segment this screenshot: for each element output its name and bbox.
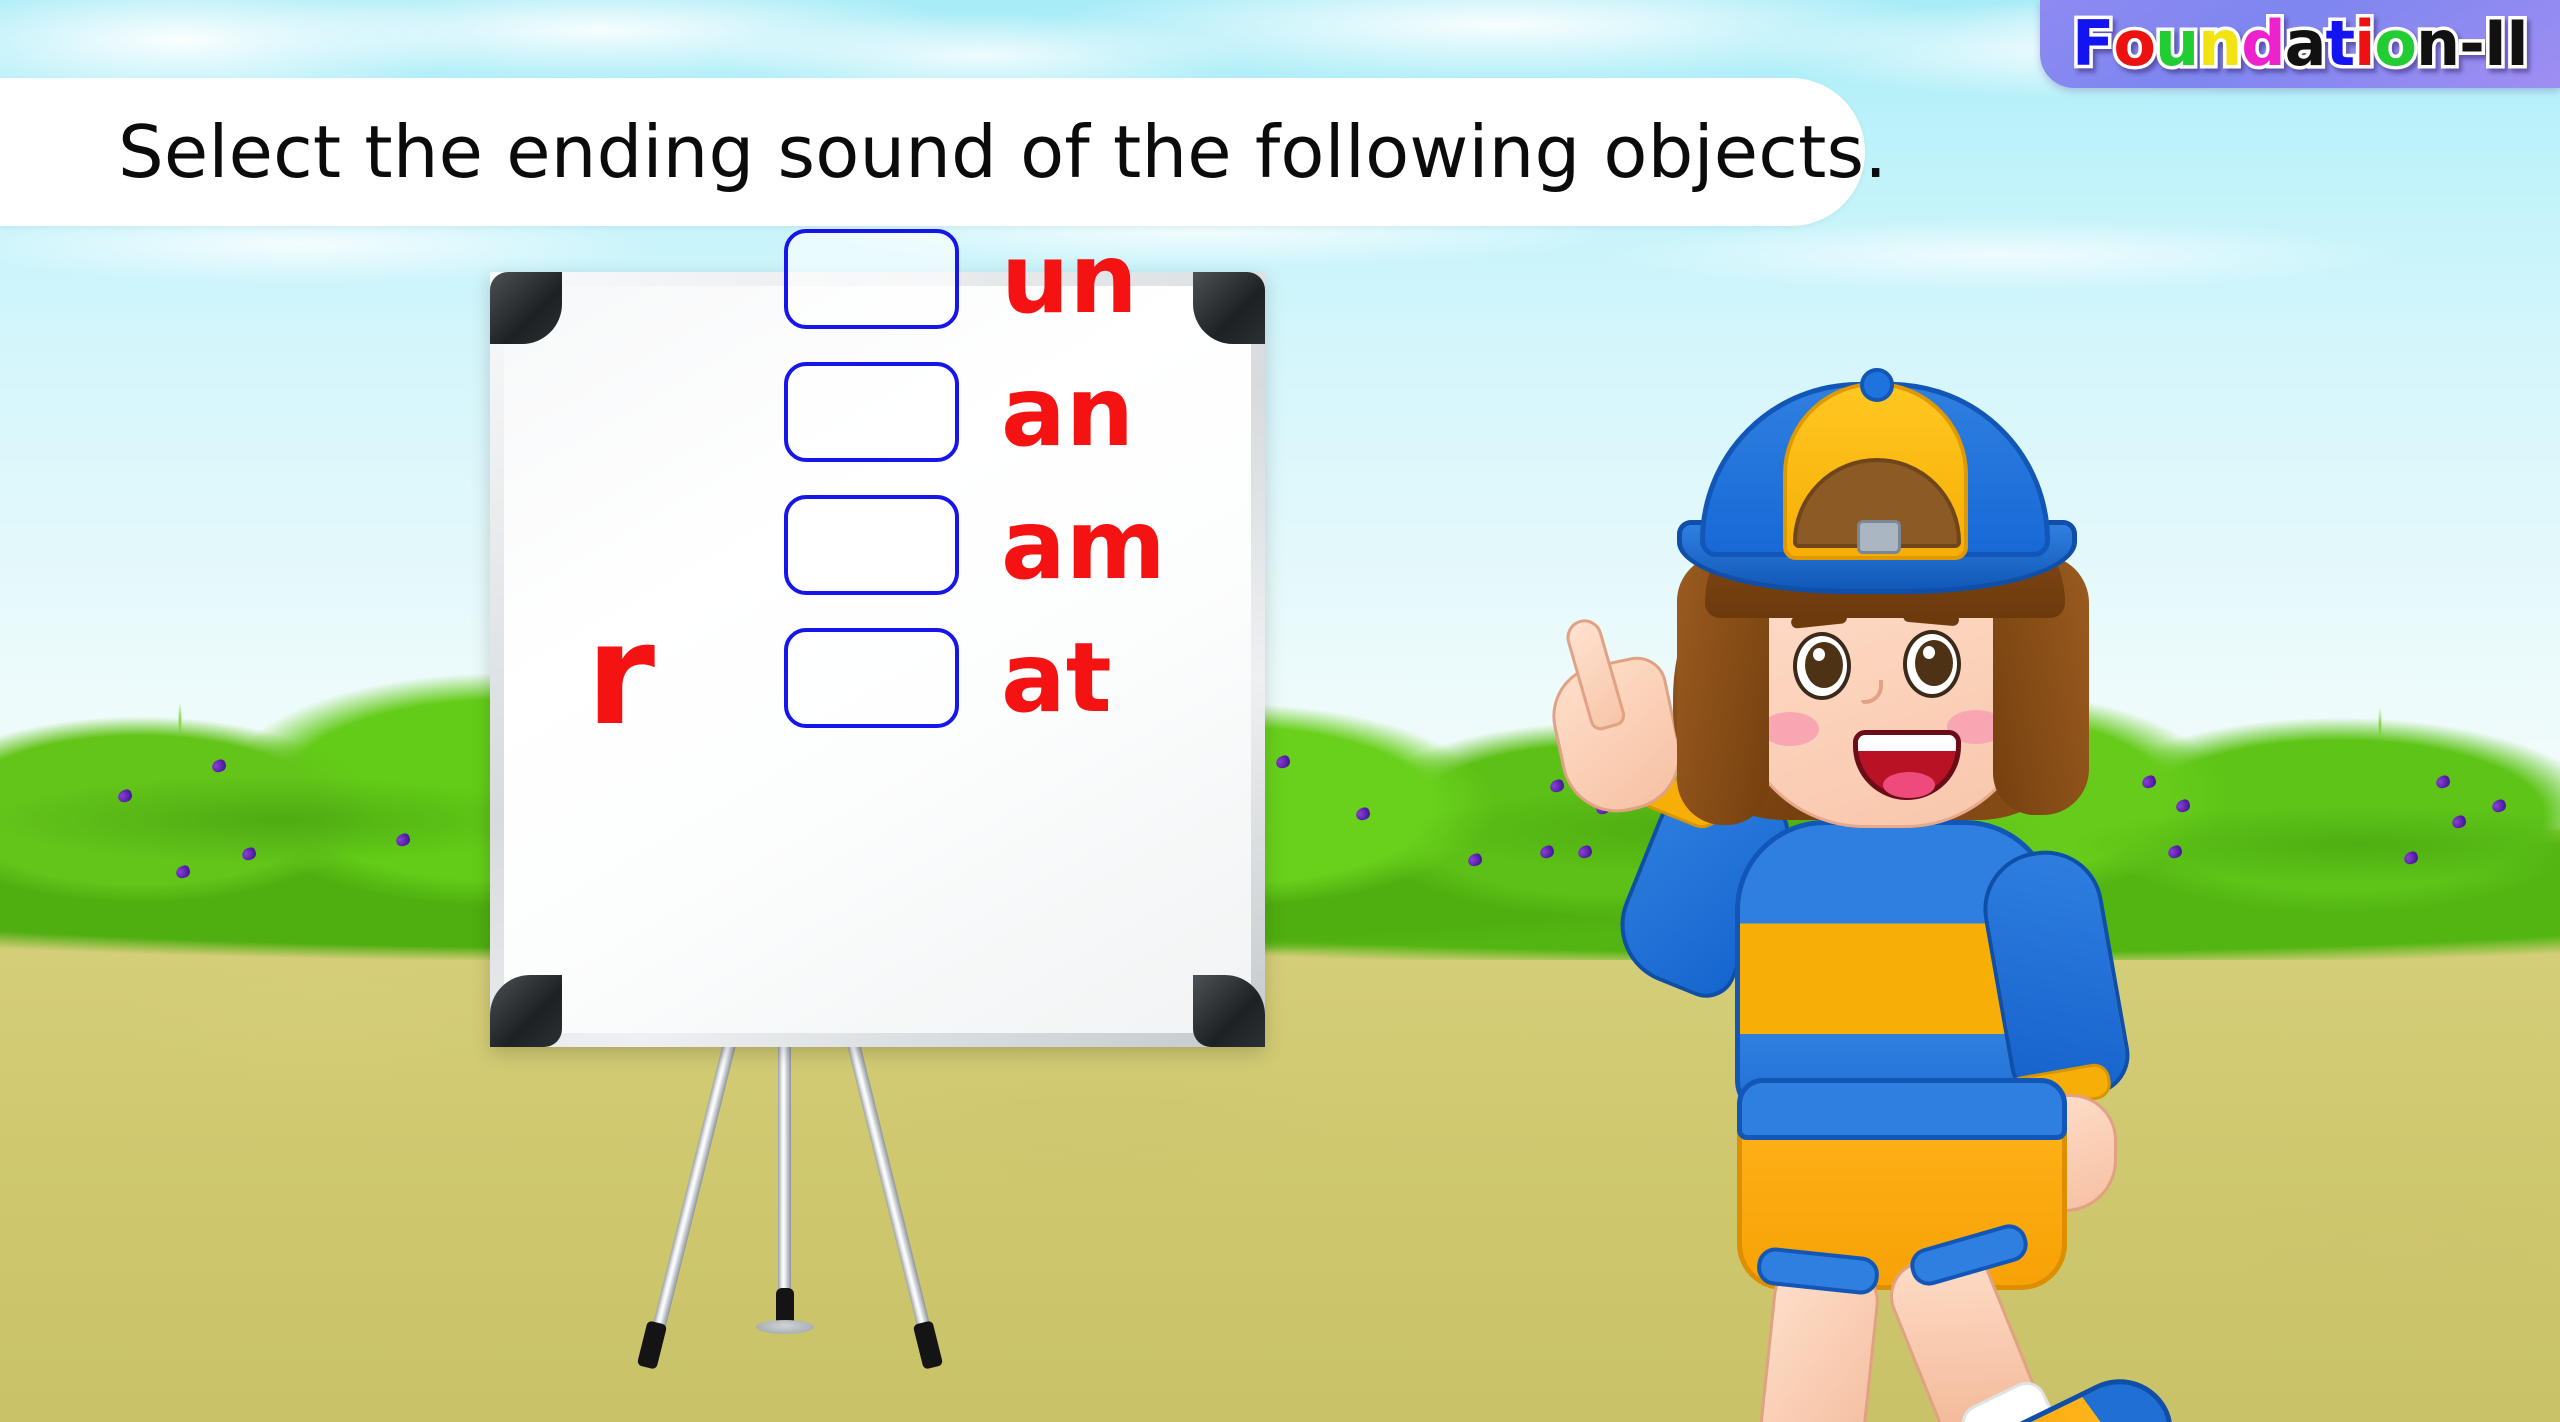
character-shorts-waistband [1737, 1078, 2067, 1140]
easel-base-plate [756, 1320, 814, 1334]
instruction-text: Select the ending sound of the following… [118, 110, 1887, 194]
character-pupil-left [1805, 642, 1843, 688]
whiteboard: r un an am [490, 272, 1265, 1047]
option-row-am: am [784, 492, 1254, 597]
option-row-an: an [784, 359, 1254, 464]
character-cap-button [1860, 368, 1894, 402]
option-label-am[interactable]: am [1001, 497, 1166, 593]
board-corner-bottom-left [490, 975, 562, 1047]
option-label-at[interactable]: at [1001, 630, 1112, 726]
answer-options-list: un an am at [784, 226, 1254, 758]
checkbox-at[interactable] [784, 628, 959, 728]
whiteboard-surface: r un an am [504, 286, 1251, 1033]
prompt-letter: r [586, 606, 655, 746]
checkbox-am[interactable] [784, 495, 959, 595]
option-label-un[interactable]: un [1001, 231, 1138, 327]
character-girl [1565, 380, 2205, 1340]
board-corner-bottom-right [1193, 975, 1265, 1047]
instruction-banner: Select the ending sound of the following… [0, 78, 1865, 226]
character-pupil-right [1915, 640, 1953, 686]
checkbox-an[interactable] [784, 362, 959, 462]
easel-leg-center [778, 1024, 791, 1322]
level-badge: Foundation-II [2040, 0, 2560, 88]
option-row-at: at [784, 625, 1254, 730]
character-tongue [1883, 772, 1935, 798]
easel: r un an am [490, 272, 1280, 1272]
checkbox-un[interactable] [784, 229, 959, 329]
character-cap-buckle [1857, 520, 1901, 554]
character-cheek-left [1761, 712, 1819, 746]
option-label-an[interactable]: an [1001, 364, 1134, 460]
level-badge-label: Foundation-II [2072, 13, 2528, 75]
option-row-un: un [784, 226, 1254, 331]
